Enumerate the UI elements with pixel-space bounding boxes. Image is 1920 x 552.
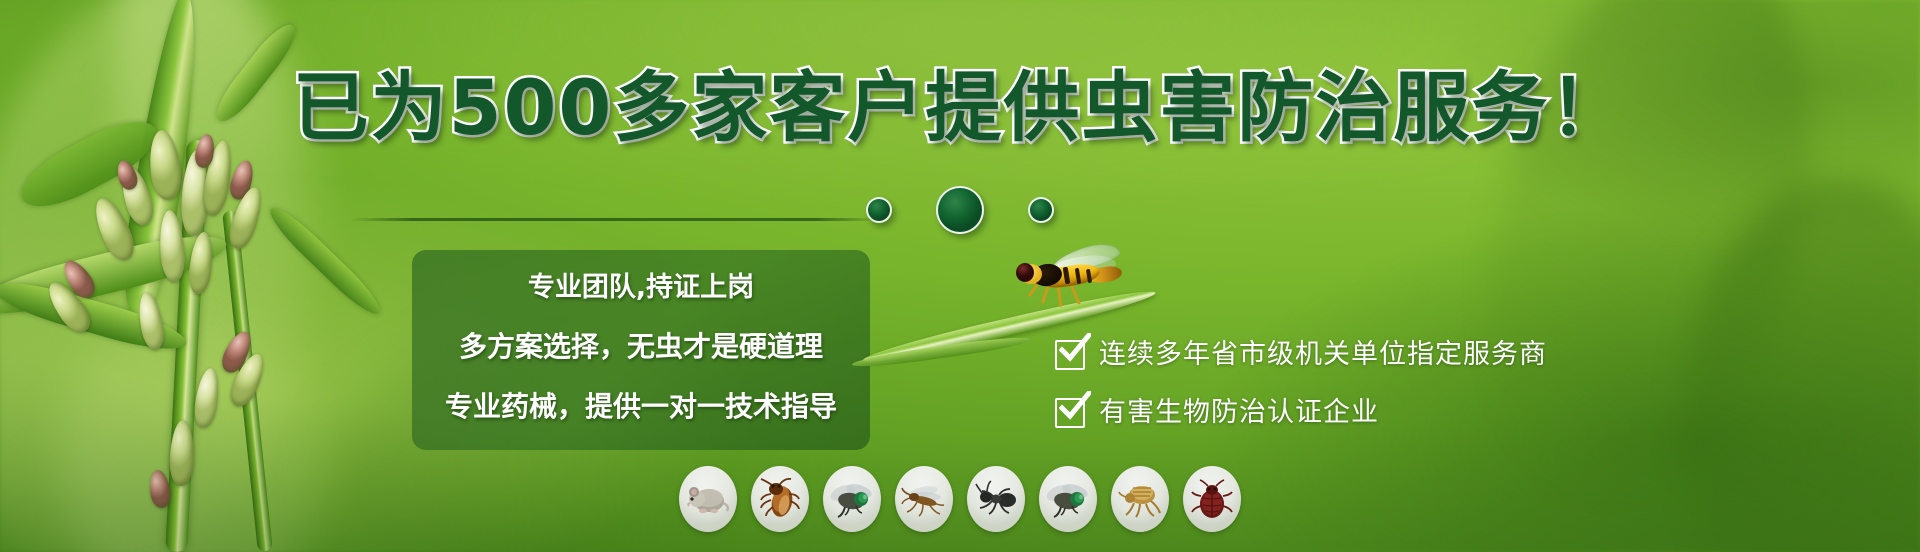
fly-icon[interactable] bbox=[823, 466, 881, 532]
dot-small-right bbox=[1028, 197, 1054, 223]
banner-headline: 已为500多家客户提供虫害防治服务！ bbox=[0, 68, 1920, 148]
cockroach-icon[interactable] bbox=[751, 466, 809, 532]
fly-leg bbox=[1070, 285, 1081, 304]
info-panel-line-3: 专业药械，提供一对一技术指导 bbox=[412, 377, 870, 437]
flea-icon[interactable] bbox=[1111, 466, 1169, 532]
checkbox-checked-icon bbox=[1055, 340, 1085, 370]
fly-leg bbox=[1056, 285, 1062, 307]
mosquito-icon[interactable] bbox=[895, 466, 953, 532]
checklist-item-label: 有害生物防治认证企业 bbox=[1099, 398, 1379, 428]
checklist-item: 有害生物防治认证企业 bbox=[1055, 384, 1615, 442]
dot-large-center bbox=[936, 186, 984, 234]
promo-banner: 已为500多家客户提供虫害防治服务！ 专业团队,持证上岗 多方案选择，无虫才是硬… bbox=[0, 0, 1920, 552]
fly-eye bbox=[1016, 263, 1034, 282]
ant-icon[interactable] bbox=[967, 466, 1025, 532]
feature-checklist: 连续多年省市级机关单位指定服务商 有害生物防治认证企业 bbox=[1055, 326, 1615, 442]
bedbug-icon[interactable] bbox=[1183, 466, 1241, 532]
checkbox-checked-icon bbox=[1055, 398, 1085, 428]
info-panel-line-2: 多方案选择，无虫才是硬道理 bbox=[412, 317, 870, 377]
decorative-dot-group bbox=[0, 186, 1920, 234]
rodent-icon[interactable] bbox=[679, 466, 737, 532]
checklist-item: 连续多年省市级机关单位指定服务商 bbox=[1055, 326, 1615, 384]
hoverfly-icon bbox=[1010, 244, 1128, 306]
blowfly-icon[interactable] bbox=[1039, 466, 1097, 532]
info-panel-line-1: 专业团队,持证上岗 bbox=[412, 259, 870, 317]
divider bbox=[350, 218, 880, 221]
banner-headline-text: 已为500多家客户提供虫害防治服务！ bbox=[293, 63, 1628, 152]
seed-pod bbox=[192, 367, 222, 429]
pest-icon-row bbox=[0, 466, 1920, 532]
info-panel: 专业团队,持证上岗 多方案选择，无虫才是硬道理 专业药械，提供一对一技术指导 bbox=[412, 250, 870, 450]
checklist-item-label: 连续多年省市级机关单位指定服务商 bbox=[1099, 340, 1547, 370]
